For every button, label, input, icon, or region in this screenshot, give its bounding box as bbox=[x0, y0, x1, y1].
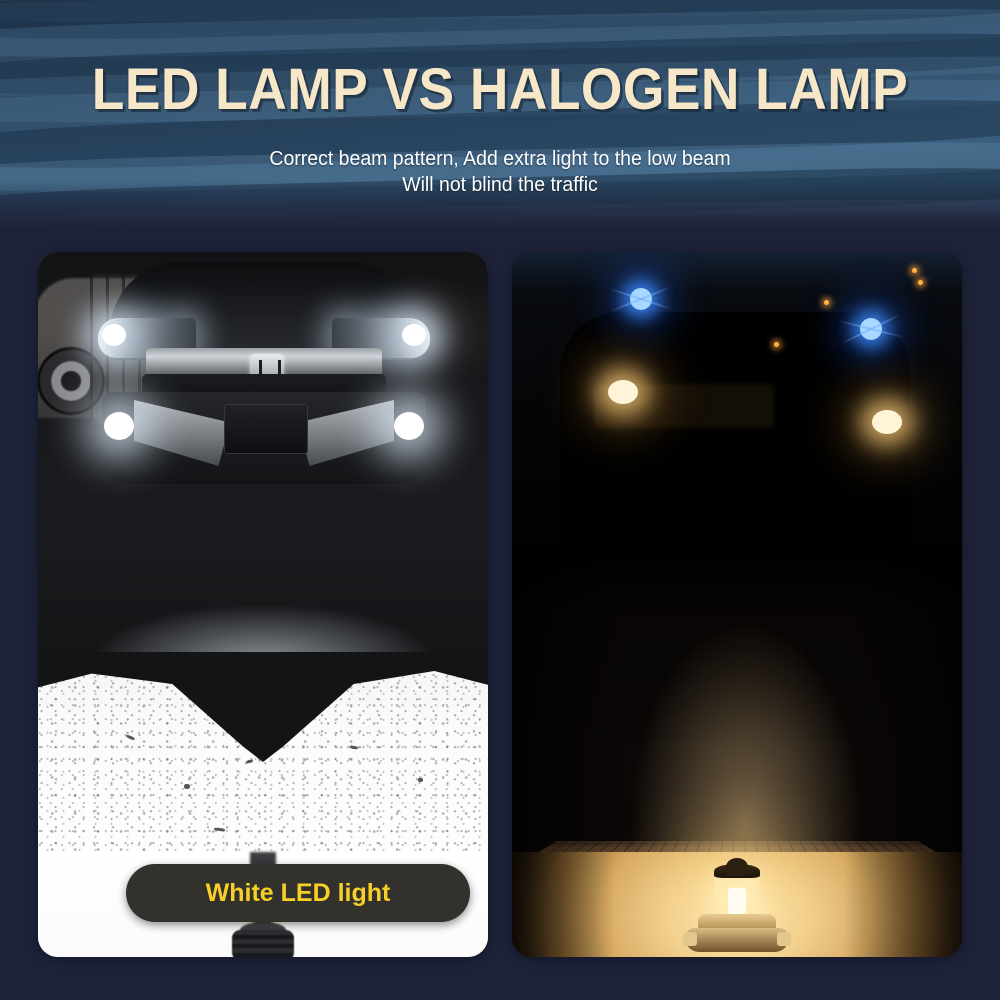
page-subtitle: Correct beam pattern, Add extra light to… bbox=[25, 146, 975, 198]
badge-white-led-light: White LED light bbox=[126, 864, 470, 922]
panel-led: White LED light bbox=[38, 252, 488, 957]
wave-stripe bbox=[0, 0, 1000, 24]
ground-light-glow bbox=[38, 512, 488, 652]
night-sky bbox=[512, 252, 962, 292]
comparison-infographic: LED LAMP VS HALOGEN LAMP Correct beam pa… bbox=[0, 0, 1000, 1000]
wave-stripe bbox=[0, 4, 1000, 62]
panel-halogen: yellow halogen lamp bbox=[512, 252, 962, 957]
halogen-bulb bbox=[677, 852, 797, 957]
amber-street-dot bbox=[912, 268, 917, 273]
license-plate bbox=[224, 404, 308, 454]
amber-street-dot bbox=[774, 342, 779, 347]
halogen-tab-right bbox=[777, 932, 791, 946]
led-bulb-heatsink bbox=[232, 930, 294, 957]
halogen-left-shadow bbox=[512, 852, 632, 957]
halogen-base-flange bbox=[685, 928, 789, 952]
amber-street-dot bbox=[918, 280, 923, 285]
road-debris bbox=[184, 784, 190, 789]
halogen-tip bbox=[726, 858, 748, 876]
headlight-core-left bbox=[102, 324, 126, 346]
subtitle-line-2: Will not blind the traffic bbox=[25, 172, 975, 198]
halogen-lamp-left bbox=[608, 380, 638, 404]
subtitle-line-1: Correct beam pattern, Add extra light to… bbox=[25, 146, 975, 172]
headlight-core-right bbox=[402, 324, 426, 346]
halogen-filament bbox=[728, 888, 746, 914]
fog-light-right bbox=[394, 412, 424, 440]
halogen-right-shadow bbox=[822, 852, 962, 957]
page-title: LED LAMP VS HALOGEN LAMP bbox=[40, 56, 960, 123]
fog-light-left bbox=[104, 412, 134, 440]
photo-car-night-led-beam bbox=[38, 252, 488, 652]
halogen-tab-left bbox=[683, 932, 697, 946]
halogen-lamp-right bbox=[872, 410, 902, 434]
amber-street-dot bbox=[824, 300, 829, 305]
road-debris bbox=[418, 778, 423, 782]
wave-stripe bbox=[0, 0, 1000, 45]
